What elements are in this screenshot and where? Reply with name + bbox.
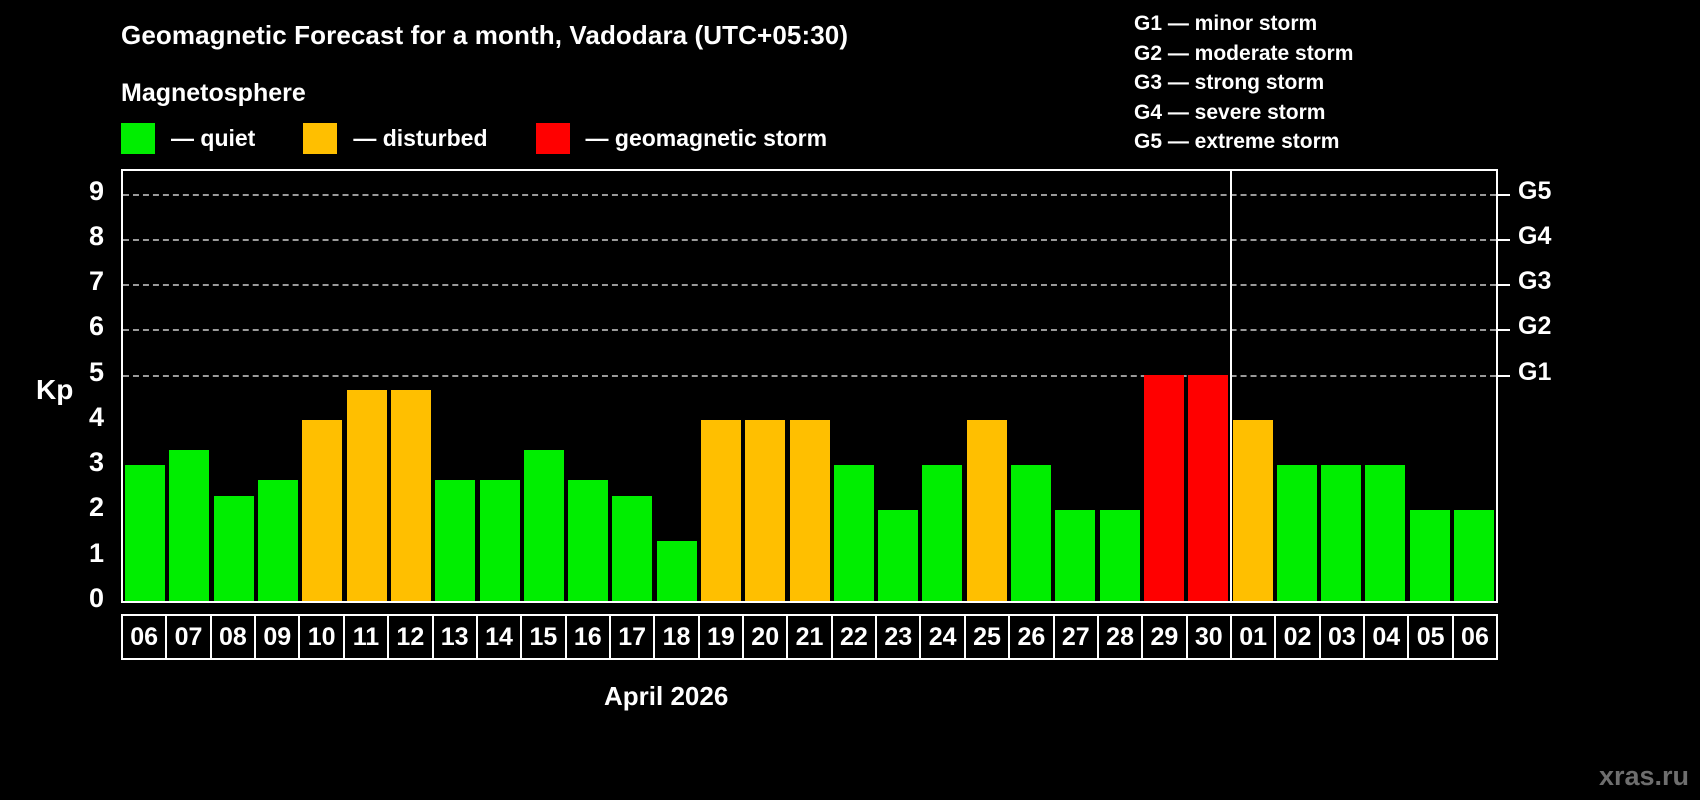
storm-scale-line-3: G3 — strong storm — [1134, 68, 1353, 98]
storm-scale-line-1: G1 — minor storm — [1134, 9, 1353, 39]
storm-scale-line-5: G5 — extreme storm — [1134, 127, 1353, 157]
date-label-10: 16 — [567, 616, 611, 658]
plot-area — [121, 169, 1498, 603]
bar-cell[interactable] — [832, 171, 876, 601]
y-tick-label-4: 4 — [18, 402, 104, 433]
bar-06-quiet[interactable] — [125, 465, 165, 601]
bar-cell[interactable] — [1230, 171, 1274, 601]
x-axis-date-labels: 0607080910111213141516171819202122232425… — [121, 614, 1498, 660]
legend-label-storm: — geomagnetic storm — [586, 125, 828, 152]
date-label-14: 20 — [744, 616, 788, 658]
date-label-6: 12 — [389, 616, 433, 658]
legend-label-quiet: — quiet — [171, 125, 255, 152]
storm-scale-line-2: G2 — moderate storm — [1134, 39, 1353, 69]
bar-cell[interactable] — [1452, 171, 1496, 601]
bar-01-disturbed[interactable] — [1233, 420, 1273, 601]
bar-cell[interactable] — [1142, 171, 1186, 601]
bar-03-quiet[interactable] — [1321, 465, 1361, 601]
bar-cell[interactable] — [920, 171, 964, 601]
bar-09-quiet[interactable] — [258, 480, 298, 601]
g-tick-mark-G3 — [1498, 284, 1510, 286]
date-label-5: 11 — [345, 616, 389, 658]
legend-item-disturbed: — disturbed — [303, 123, 487, 154]
bar-cell[interactable] — [1098, 171, 1142, 601]
bar-11-disturbed[interactable] — [347, 390, 387, 601]
date-label-17: 23 — [877, 616, 921, 658]
date-label-11: 17 — [611, 616, 655, 658]
bar-cell[interactable] — [344, 171, 388, 601]
date-label-24: 30 — [1188, 616, 1232, 658]
magnetosphere-label: Magnetosphere — [121, 79, 306, 108]
y-tick-label-0: 0 — [18, 583, 104, 614]
bar-21-disturbed[interactable] — [790, 420, 830, 601]
date-label-15: 21 — [788, 616, 832, 658]
bar-cell[interactable] — [1009, 171, 1053, 601]
bar-cell[interactable] — [876, 171, 920, 601]
bar-16-quiet[interactable] — [568, 480, 608, 601]
bar-06-quiet[interactable] — [1454, 510, 1494, 601]
legend-item-quiet: — quiet — [121, 123, 255, 154]
bar-20-disturbed[interactable] — [745, 420, 785, 601]
date-label-26: 02 — [1276, 616, 1320, 658]
bar-cell[interactable] — [256, 171, 300, 601]
legend-swatch-storm — [536, 123, 570, 154]
bar-cell[interactable] — [1363, 171, 1407, 601]
date-label-22: 28 — [1099, 616, 1143, 658]
bar-cell[interactable] — [1408, 171, 1452, 601]
bar-17-quiet[interactable] — [612, 496, 652, 601]
date-label-0: 06 — [123, 616, 167, 658]
date-label-19: 25 — [966, 616, 1010, 658]
g-tick-mark-G5 — [1498, 194, 1510, 196]
date-label-20: 26 — [1010, 616, 1054, 658]
storm-scale-legend: G1 — minor stormG2 — moderate stormG3 — … — [1134, 9, 1353, 157]
date-label-1: 07 — [167, 616, 211, 658]
y-tick-label-3: 3 — [18, 447, 104, 478]
date-label-9: 15 — [522, 616, 566, 658]
bar-cell[interactable] — [522, 171, 566, 601]
y-tick-label-9: 9 — [18, 176, 104, 207]
bar-cell[interactable] — [1275, 171, 1319, 601]
g-tick-mark-G1 — [1498, 375, 1510, 377]
bar-cell[interactable] — [212, 171, 256, 601]
date-label-2: 08 — [212, 616, 256, 658]
y-tick-label-7: 7 — [18, 266, 104, 297]
bar-02-quiet[interactable] — [1277, 465, 1317, 601]
bar-cell[interactable] — [433, 171, 477, 601]
date-label-21: 27 — [1055, 616, 1099, 658]
bar-25-disturbed[interactable] — [967, 420, 1007, 601]
date-label-25: 01 — [1232, 616, 1276, 658]
x-axis-title: April 2026 — [604, 681, 728, 712]
bar-10-disturbed[interactable] — [302, 420, 342, 601]
bar-12-disturbed[interactable] — [391, 390, 431, 601]
bar-series — [123, 171, 1496, 601]
bar-cell[interactable] — [566, 171, 610, 601]
date-label-28: 04 — [1365, 616, 1409, 658]
g-tick-label-G2: G2 — [1518, 312, 1551, 341]
bar-cell[interactable] — [610, 171, 654, 601]
bar-cell[interactable] — [1319, 171, 1363, 601]
bar-19-disturbed[interactable] — [701, 420, 741, 601]
forecast-divider — [1230, 171, 1232, 601]
bar-cell[interactable] — [1053, 171, 1097, 601]
bar-04-quiet[interactable] — [1365, 465, 1405, 601]
bar-cell[interactable] — [1186, 171, 1230, 601]
page-title: Geomagnetic Forecast for a month, Vadoda… — [121, 20, 848, 51]
bar-cell[interactable] — [477, 171, 521, 601]
bar-cell[interactable] — [965, 171, 1009, 601]
g-tick-label-G4: G4 — [1518, 222, 1551, 251]
date-label-12: 18 — [655, 616, 699, 658]
y-tick-label-1: 1 — [18, 538, 104, 569]
bar-cell[interactable] — [389, 171, 433, 601]
date-label-7: 13 — [434, 616, 478, 658]
g-tick-mark-G4 — [1498, 239, 1510, 241]
date-label-16: 22 — [833, 616, 877, 658]
bar-22-quiet[interactable] — [834, 465, 874, 601]
bar-28-quiet[interactable] — [1100, 510, 1140, 601]
date-label-4: 10 — [300, 616, 344, 658]
storm-scale-line-4: G4 — severe storm — [1134, 98, 1353, 128]
date-label-27: 03 — [1321, 616, 1365, 658]
date-label-30: 06 — [1454, 616, 1496, 658]
date-label-3: 09 — [256, 616, 300, 658]
watermark: xras.ru — [1599, 761, 1689, 792]
legend-label-disturbed: — disturbed — [353, 125, 487, 152]
y-tick-label-8: 8 — [18, 221, 104, 252]
bar-14-quiet[interactable] — [480, 480, 520, 601]
date-label-29: 05 — [1409, 616, 1453, 658]
legend-item-storm: — geomagnetic storm — [536, 123, 828, 154]
y-tick-label-6: 6 — [18, 311, 104, 342]
bar-26-quiet[interactable] — [1011, 465, 1051, 601]
bar-cell[interactable] — [655, 171, 699, 601]
legend-swatch-quiet — [121, 123, 155, 154]
date-label-23: 29 — [1143, 616, 1187, 658]
g-tick-label-G3: G3 — [1518, 267, 1551, 296]
bar-cell[interactable] — [743, 171, 787, 601]
date-label-13: 19 — [700, 616, 744, 658]
bar-cell[interactable] — [787, 171, 831, 601]
bar-08-quiet[interactable] — [214, 496, 254, 601]
bar-27-quiet[interactable] — [1055, 510, 1095, 601]
y-tick-label-5: 5 — [18, 357, 104, 388]
bar-07-quiet[interactable] — [169, 450, 209, 601]
g-tick-label-G1: G1 — [1518, 358, 1551, 387]
bar-15-quiet[interactable] — [524, 450, 564, 601]
y-tick-label-2: 2 — [18, 492, 104, 523]
date-label-8: 14 — [478, 616, 522, 658]
bar-13-quiet[interactable] — [435, 480, 475, 601]
bar-cell[interactable] — [123, 171, 167, 601]
legend-swatch-disturbed — [303, 123, 337, 154]
bar-29-storm[interactable] — [1144, 375, 1184, 601]
bar-05-quiet[interactable] — [1410, 510, 1450, 601]
bar-18-quiet[interactable] — [657, 541, 697, 601]
bar-cell[interactable] — [167, 171, 211, 601]
bar-23-quiet[interactable] — [878, 510, 918, 601]
bar-cell[interactable] — [699, 171, 743, 601]
bar-24-quiet[interactable] — [922, 465, 962, 601]
legend: — quiet— disturbed— geomagnetic storm — [121, 122, 875, 154]
g-tick-mark-G2 — [1498, 329, 1510, 331]
g-tick-label-G5: G5 — [1518, 177, 1551, 206]
bar-cell[interactable] — [300, 171, 344, 601]
date-label-18: 24 — [921, 616, 965, 658]
bar-30-storm[interactable] — [1188, 375, 1228, 601]
chart-root: Geomagnetic Forecast for a month, Vadoda… — [0, 0, 1700, 800]
